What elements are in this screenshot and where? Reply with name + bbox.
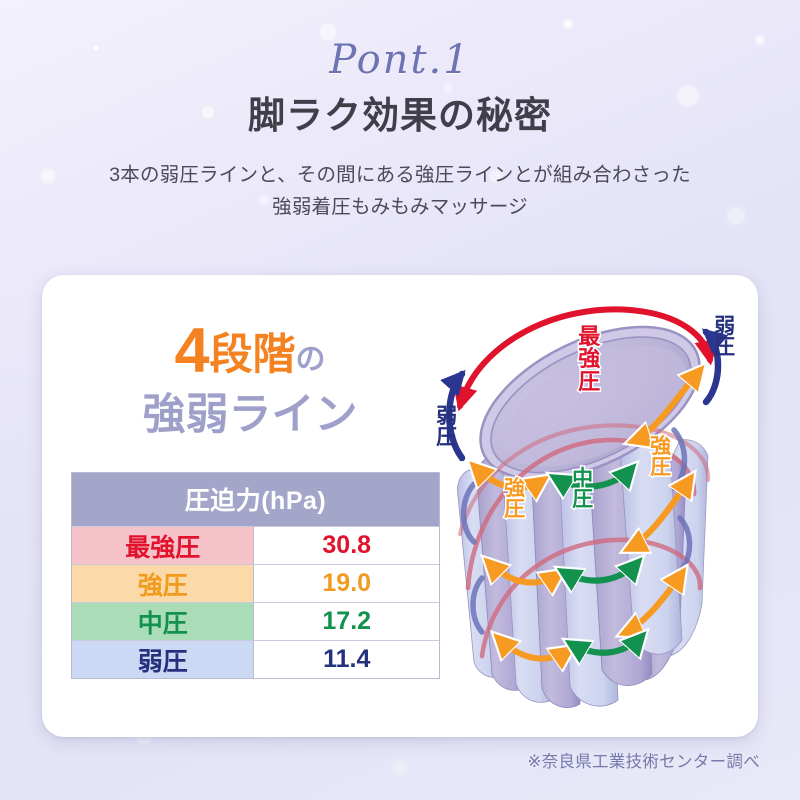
page-subtitle: 3本の弱圧ラインと、その間にある強圧ラインとが組み合わさった 強弱着圧もみもみマ…: [0, 159, 800, 223]
footnote: ※奈良県工業技術センター調べ: [527, 748, 760, 772]
lead-line-2: 強弱ライン: [90, 389, 410, 443]
row-label-mid: 中圧: [72, 602, 254, 640]
table-header-cell: 圧迫力(hPa): [72, 473, 439, 526]
table-body: 最強圧 30.8 強圧 19.0 中圧 17.2 弱圧 11.4: [72, 526, 439, 678]
label-weak-pressure-left: 弱圧: [434, 406, 459, 449]
table-row: 弱圧 11.4: [72, 640, 439, 678]
header: Pont.1 脚ラク効果の秘密 3本の弱圧ラインと、その間にある強圧ラインとが組…: [0, 0, 800, 223]
table-row: 最強圧 30.8: [72, 526, 439, 564]
label-max-pressure: 最強圧: [576, 326, 602, 393]
lead-number: 4: [174, 316, 209, 386]
page-title: 脚ラク効果の秘密: [0, 96, 800, 137]
lead-particle: の: [296, 343, 326, 376]
row-label-strong: 強圧: [72, 564, 254, 602]
row-value-mid: 17.2: [254, 602, 439, 640]
row-label-max: 最強圧: [72, 526, 254, 564]
row-value-strong: 19.0: [254, 564, 439, 602]
subtitle-line-1: 3本の弱圧ラインと、その間にある強圧ラインとが組み合わさった: [0, 159, 800, 191]
row-label-weak: 弱圧: [72, 640, 254, 678]
label-strong-pressure-left: 強圧: [502, 478, 527, 521]
lead-line-1: 4段階の: [90, 320, 410, 383]
row-value-weak: 11.4: [254, 640, 439, 678]
eyebrow-point-label: Pont.1: [0, 40, 800, 80]
label-mid-pressure: 中圧: [570, 468, 595, 511]
row-value-max: 30.8: [254, 526, 439, 564]
subtitle-line-2: 強弱着圧もみもみマッサージ: [0, 191, 800, 223]
table-row: 中圧 17.2: [72, 602, 439, 640]
label-weak-pressure-right: 弱圧: [712, 316, 737, 359]
lead-headline: 4段階の 強弱ライン: [90, 320, 410, 443]
pressure-table: 圧迫力(hPa) 最強圧 30.8 強圧 19.0 中圧 17.2 弱圧 11.…: [71, 472, 440, 679]
lead-stage: 段階: [210, 331, 296, 379]
table-header-row: 圧迫力(hPa): [72, 473, 439, 526]
pressure-tube-diagram: 最強圧 弱圧 弱圧 強圧 強圧 中圧: [430, 288, 760, 738]
table-row: 強圧 19.0: [72, 564, 439, 602]
label-strong-pressure-right: 強圧: [648, 436, 673, 479]
